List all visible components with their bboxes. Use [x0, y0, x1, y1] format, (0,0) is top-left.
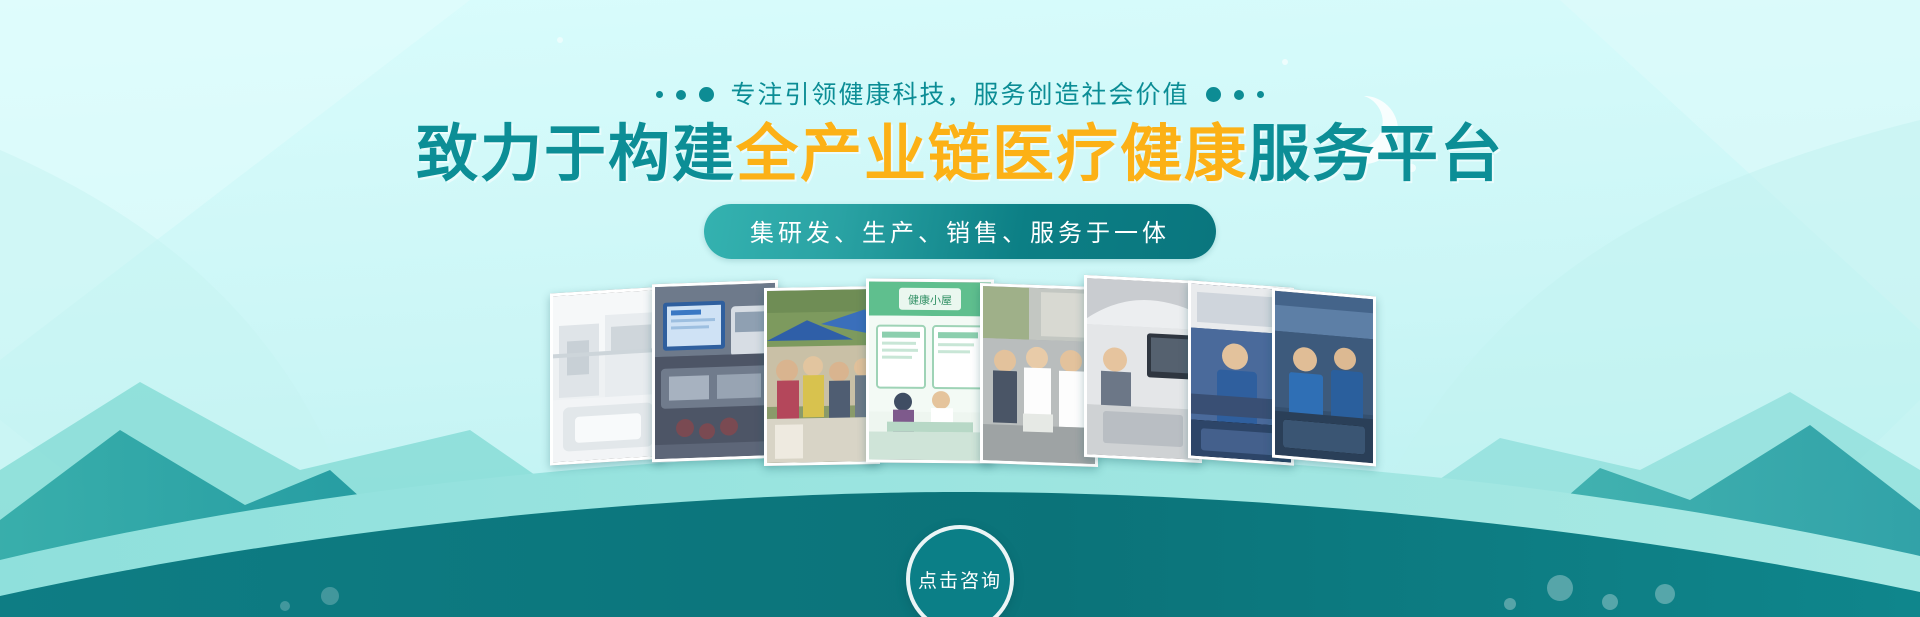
- decorative-dots-left: [656, 87, 714, 102]
- photo-card-health-terminal[interactable]: [652, 280, 778, 462]
- dot-small-icon: [656, 91, 663, 98]
- consult-button[interactable]: 点击咨询: [906, 525, 1014, 617]
- svg-text:健康小屋: 健康小屋: [908, 293, 952, 307]
- photo-card-lab-equipment[interactable]: [550, 286, 666, 465]
- dot-large-icon: [1206, 87, 1221, 102]
- promo-banner: 专注引领健康科技，服务创造社会价值 致力于构建全产业链医疗健康服务平台 集研发、…: [0, 0, 1920, 617]
- tagline-row: 专注引领健康科技，服务创造社会价值: [0, 82, 1920, 107]
- tagline-text: 专注引领健康科技，服务创造社会价值: [730, 82, 1189, 107]
- dot-small-icon: [1257, 91, 1264, 98]
- dot-medium-icon: [1234, 90, 1244, 100]
- headline: 致力于构建全产业链医疗健康服务平台: [0, 122, 1920, 185]
- photo-card-doctors-visit[interactable]: [980, 283, 1098, 467]
- headline-part-3: 服务平台: [1248, 117, 1504, 190]
- headline-part-1: 致力于构建: [416, 117, 736, 190]
- headline-part-2-highlight: 全产业链医疗健康: [736, 117, 1248, 190]
- photo-strip: 健康小屋: [550, 278, 1370, 458]
- photo-card-factory-line[interactable]: [1272, 287, 1376, 466]
- photo-card-health-kiosk[interactable]: 健康小屋: [866, 278, 994, 463]
- photo-card-checkup-desk[interactable]: [1084, 275, 1202, 463]
- decorative-dots-right: [1206, 87, 1264, 102]
- dot-large-icon: [699, 87, 714, 102]
- cta-wrap: 点击咨询: [906, 525, 1014, 617]
- photo-card-outdoor-clinic[interactable]: [764, 286, 880, 466]
- service-scope-badge: 集研发、生产、销售、服务于一体: [704, 204, 1216, 259]
- badge-row: 集研发、生产、销售、服务于一体: [0, 204, 1920, 259]
- dot-medium-icon: [676, 90, 686, 100]
